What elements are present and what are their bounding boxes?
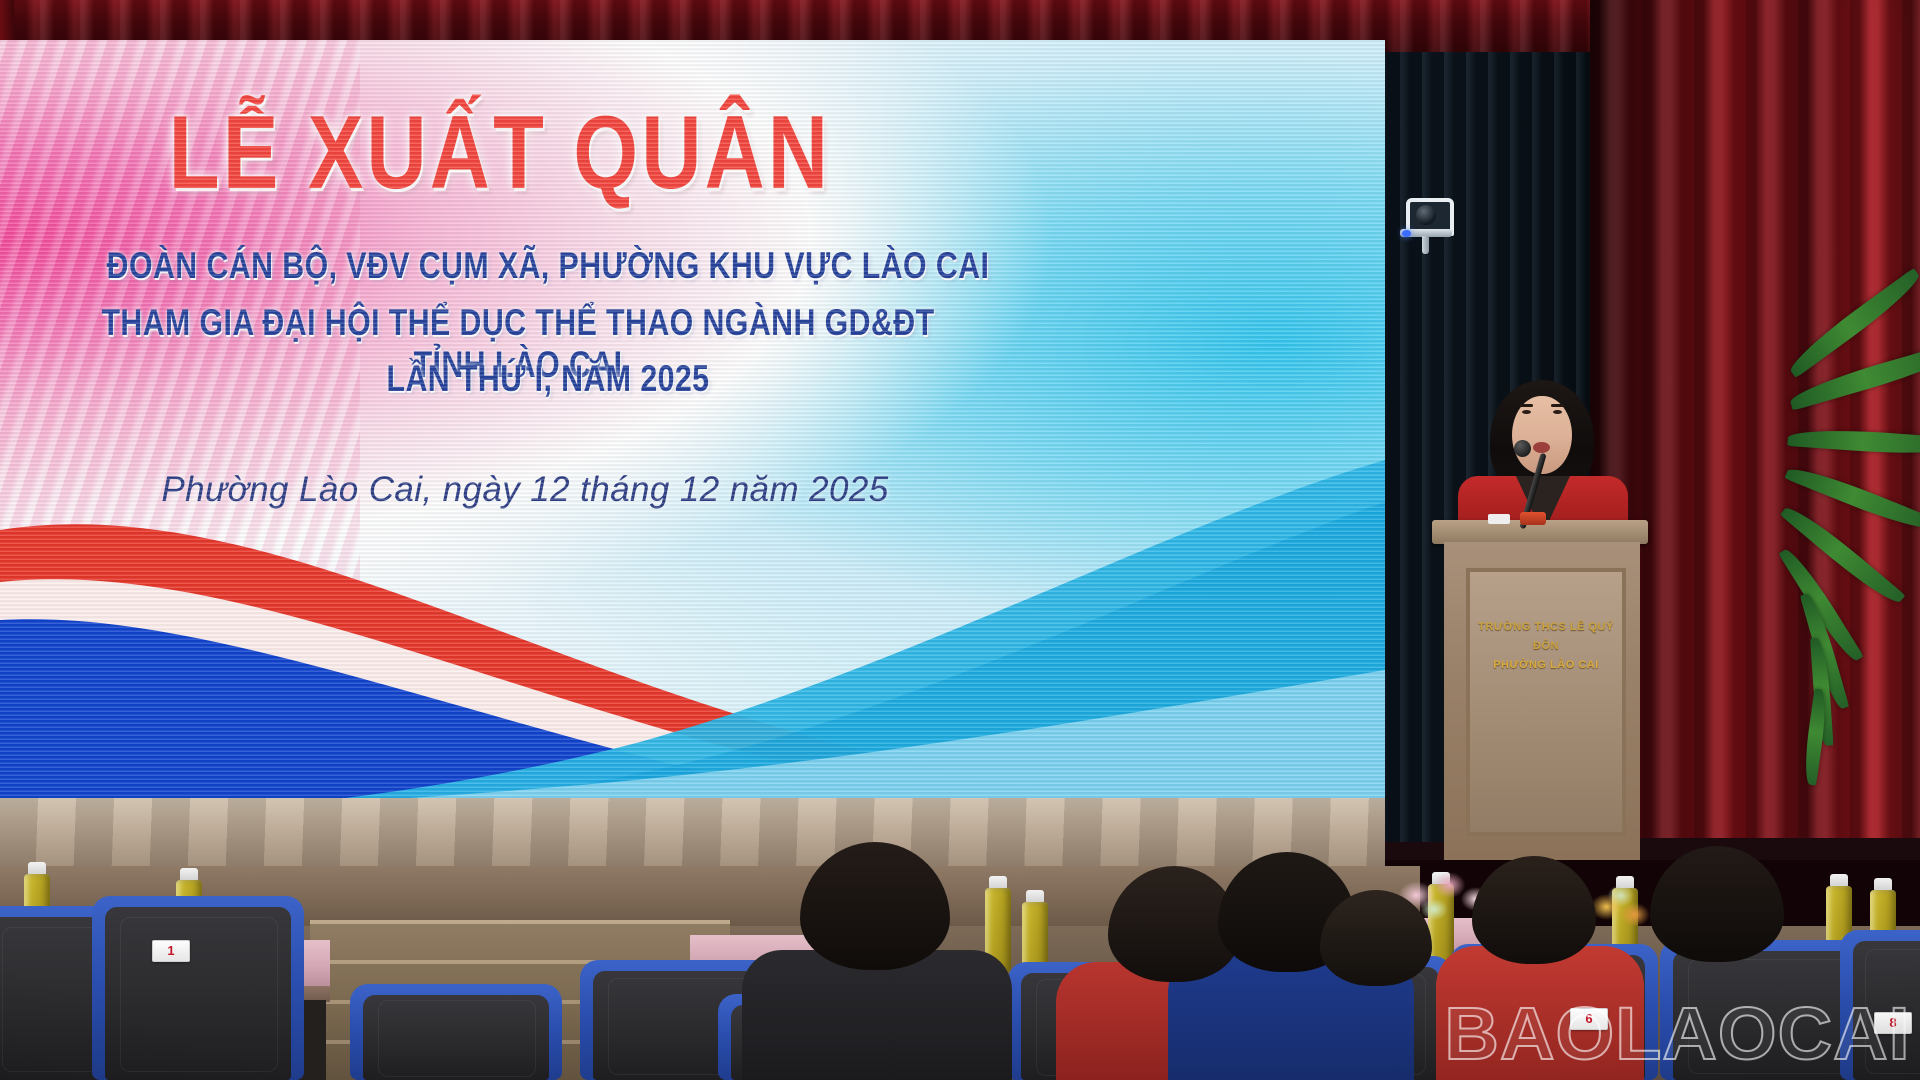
presentation-main-title: LỄ XUẤT QUÂN [100, 94, 900, 213]
stage-floor [0, 798, 1385, 868]
audience-chair[interactable] [350, 984, 562, 1080]
nameplate-line-2: PHƯỜNG LÀO CAI [1476, 656, 1616, 675]
presentation-subtitle-line-1: ĐOÀN CÁN BỘ, VĐV CỤM XÃ, PHƯỜNG KHU VỰC … [105, 245, 991, 287]
photo-canvas: LỄ XUẤT QUÂN ĐOÀN CÁN BỘ, VĐV CỤM XÃ, PH… [0, 0, 1920, 1080]
microphone-icon [1514, 440, 1531, 457]
podium-front-panel: TRƯỜNG THCS LÊ QUÝ ĐÔN PHƯỜNG LÀO CAI [1466, 568, 1626, 836]
ptz-camera-icon [1400, 196, 1452, 242]
screen-text-block: LỄ XUẤT QUÂN ĐOÀN CÁN BỘ, VĐV CỤM XÃ, PH… [0, 40, 1385, 800]
publisher-watermark: BAOLAOCAI [1444, 991, 1910, 1076]
speaking-podium: TRƯỜNG THCS LÊ QUÝ ĐÔN PHƯỜNG LÀO CAI [1440, 520, 1640, 860]
presentation-dateline: Phường Lào Cai, ngày 12 tháng 12 năm 202… [0, 470, 1050, 510]
podium-red-object [1520, 512, 1546, 525]
nameplate-line-1: TRƯỜNG THCS LÊ QUÝ ĐÔN [1476, 618, 1616, 656]
seat-number-tag: 1 [152, 940, 190, 962]
presentation-subtitle-line-3: LẦN THỨ I, NĂM 2025 [105, 358, 991, 400]
audience-chair[interactable] [92, 896, 304, 1080]
podium-nameplate: TRƯỜNG THCS LÊ QUÝ ĐÔN PHƯỜNG LÀO CAI [1476, 618, 1616, 675]
camera-led-indicator [1402, 230, 1411, 237]
led-presentation-screen: LỄ XUẤT QUÂN ĐOÀN CÁN BỘ, VĐV CỤM XÃ, PH… [0, 40, 1385, 800]
decorative-palm-plant [1640, 330, 1920, 890]
